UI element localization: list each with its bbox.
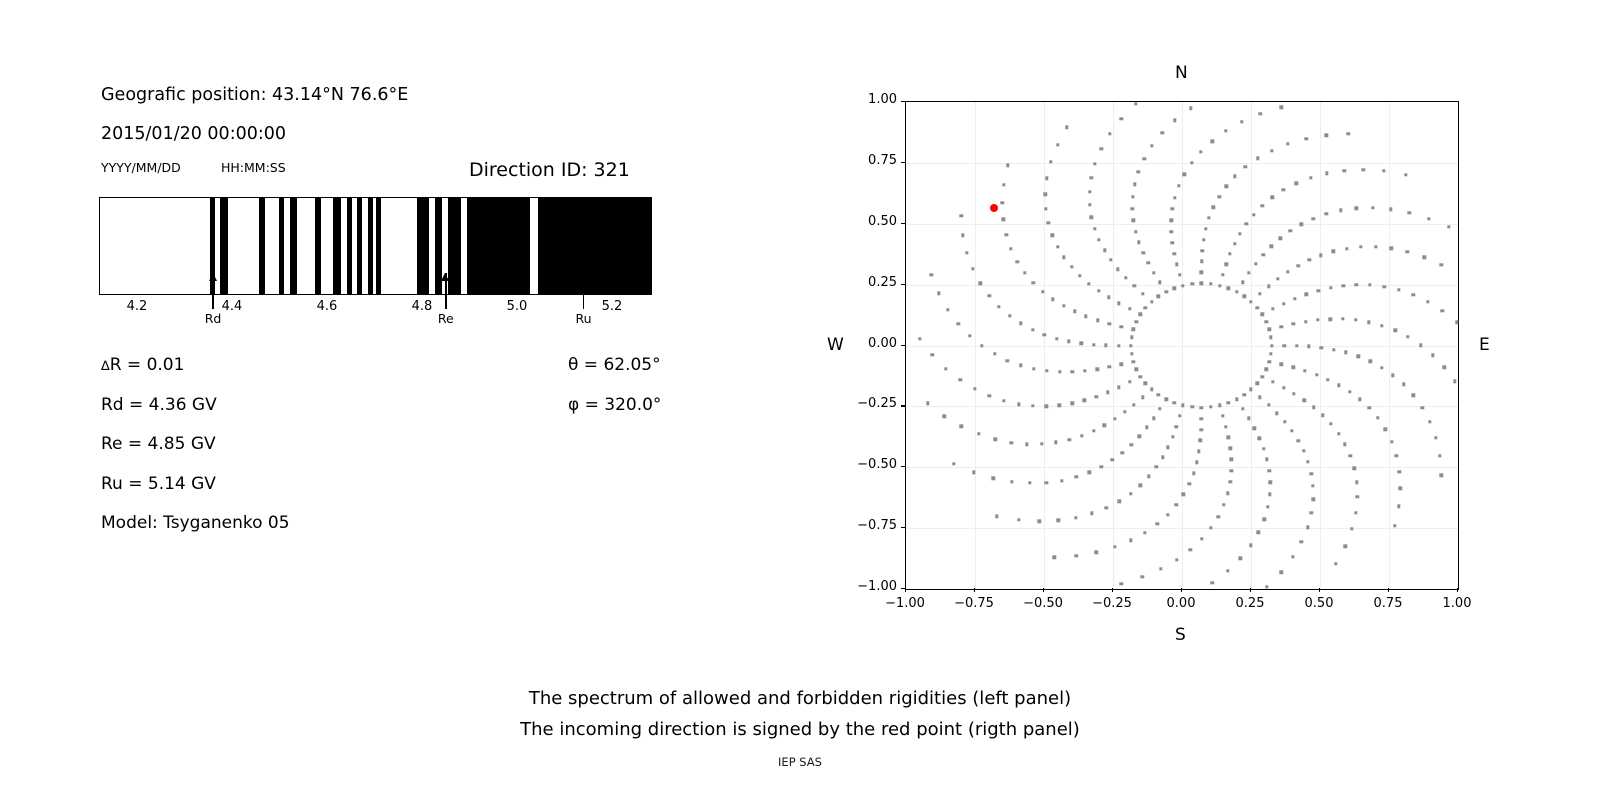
direction-dot bbox=[918, 337, 921, 340]
footer-label: IEP SAS bbox=[0, 755, 1600, 769]
inner-ring-dot bbox=[1209, 282, 1212, 285]
direction-dot bbox=[1443, 366, 1446, 369]
inner-ring-dot bbox=[1173, 401, 1176, 404]
direction-dot bbox=[1173, 196, 1176, 199]
direction-dot bbox=[1210, 581, 1213, 584]
direction-dot bbox=[1280, 570, 1283, 573]
inner-ring-dot bbox=[1200, 282, 1203, 285]
direction-dot bbox=[1195, 461, 1198, 464]
inner-ring-dot bbox=[1255, 382, 1258, 385]
polar-xtick-label: 0.75 bbox=[1374, 596, 1403, 611]
direction-dot bbox=[965, 251, 968, 254]
direction-dot bbox=[1044, 192, 1047, 195]
datetime-label: 2015/01/20 00:00:00 bbox=[101, 124, 286, 144]
polar-ytick-mark bbox=[901, 405, 905, 406]
theta-param: θ = 62.05° bbox=[568, 355, 661, 375]
direction-dot bbox=[1292, 366, 1295, 369]
direction-dot bbox=[1166, 513, 1169, 516]
direction-dot bbox=[1070, 265, 1073, 268]
direction-dot bbox=[1132, 403, 1135, 406]
inner-ring-dot bbox=[1135, 320, 1138, 323]
direction-dot bbox=[1280, 106, 1283, 109]
direction-dot bbox=[1124, 276, 1127, 279]
direction-dot bbox=[1152, 271, 1155, 274]
inner-ring-dot bbox=[1235, 290, 1238, 293]
incoming-direction-point[interactable] bbox=[990, 204, 998, 212]
polar-ytick-mark bbox=[901, 466, 905, 467]
inner-ring-dot bbox=[1150, 300, 1153, 303]
direction-dot bbox=[1271, 380, 1274, 383]
direction-dot bbox=[1097, 238, 1100, 241]
direction-dot bbox=[1211, 139, 1214, 142]
direction-dot bbox=[972, 471, 975, 474]
direction-dot bbox=[1247, 417, 1250, 420]
direction-dot bbox=[1140, 575, 1143, 578]
direction-dot bbox=[1382, 285, 1385, 288]
direction-dot bbox=[1108, 365, 1111, 368]
direction-dot bbox=[1356, 495, 1359, 498]
direction-dot bbox=[1253, 426, 1256, 429]
direction-dot bbox=[1350, 527, 1353, 530]
direction-dot bbox=[1200, 537, 1203, 540]
direction-dot bbox=[1224, 263, 1227, 266]
direction-dot bbox=[1395, 454, 1398, 457]
direction-dot bbox=[1315, 373, 1318, 376]
direction-dot bbox=[1329, 286, 1332, 289]
direction-dot bbox=[1200, 260, 1203, 263]
direction-dot bbox=[1268, 493, 1271, 496]
delta-r-value: R = 0.01 bbox=[110, 355, 185, 375]
direction-dot bbox=[1438, 454, 1441, 457]
direction-dot bbox=[1088, 203, 1091, 206]
direction-dot bbox=[1132, 219, 1135, 222]
direction-dot bbox=[1222, 503, 1225, 506]
direction-dot bbox=[1147, 475, 1150, 478]
direction-dot bbox=[1075, 554, 1078, 557]
polar-ytick-label: 0.25 bbox=[843, 275, 897, 290]
direction-dot bbox=[1031, 328, 1034, 331]
direction-dot bbox=[1057, 519, 1060, 522]
direction-dot bbox=[1051, 298, 1054, 301]
direction-dot bbox=[1031, 404, 1034, 407]
direction-dot bbox=[1067, 340, 1070, 343]
direction-dot bbox=[1238, 232, 1241, 235]
inner-ring-dot bbox=[1227, 401, 1230, 404]
inner-ring-dot bbox=[1269, 336, 1272, 339]
direction-dot bbox=[1334, 562, 1337, 565]
direction-dot bbox=[973, 387, 976, 390]
spectrum-xtick-label: 5.2 bbox=[602, 299, 623, 314]
forbidden-band bbox=[290, 198, 298, 294]
direction-dot bbox=[1158, 281, 1161, 284]
direction-dot bbox=[1032, 367, 1035, 370]
direction-dot bbox=[1109, 258, 1112, 261]
direction-dot bbox=[1017, 518, 1020, 521]
direction-dot bbox=[937, 292, 940, 295]
direction-dot bbox=[1276, 277, 1279, 280]
direction-dot bbox=[1393, 329, 1396, 332]
direction-dot bbox=[1332, 250, 1335, 253]
direction-dot bbox=[1256, 157, 1259, 160]
direction-dot bbox=[1397, 505, 1400, 508]
polar-xtick-mark bbox=[974, 588, 975, 592]
direction-dot bbox=[1312, 406, 1315, 409]
inner-ring-dot bbox=[1269, 352, 1272, 355]
re-param: Re = 4.85 GV bbox=[101, 434, 216, 454]
direction-dot bbox=[930, 273, 933, 276]
inner-ring-dot bbox=[1227, 286, 1230, 289]
direction-dot bbox=[1233, 242, 1236, 245]
direction-dot bbox=[1161, 131, 1164, 134]
delta-r-param: ∆R = 0.01 bbox=[101, 355, 184, 375]
inner-ring-dot bbox=[1218, 404, 1221, 407]
direction-dot bbox=[1358, 398, 1361, 401]
direction-dot bbox=[1155, 522, 1158, 525]
direction-dot bbox=[1100, 465, 1103, 468]
direction-dot bbox=[1376, 416, 1379, 419]
direction-dot bbox=[1279, 237, 1282, 240]
direction-dot bbox=[1221, 414, 1224, 417]
direction-dot bbox=[1345, 247, 1348, 250]
direction-dot bbox=[1142, 157, 1145, 160]
direction-dot bbox=[1228, 252, 1231, 255]
direction-dot bbox=[1263, 518, 1266, 521]
direction-dot bbox=[1002, 218, 1005, 221]
direction-dot bbox=[1117, 386, 1120, 389]
polar-xtick-label: 0.00 bbox=[1167, 596, 1196, 611]
direction-dot bbox=[1137, 241, 1140, 244]
direction-dot bbox=[1084, 314, 1087, 317]
direction-dot bbox=[1075, 475, 1078, 478]
compass-label-east: E bbox=[1479, 335, 1490, 355]
polar-xtick-label: 0.50 bbox=[1305, 596, 1334, 611]
direction-dot bbox=[1271, 307, 1274, 310]
polar-ytick-label: −1.00 bbox=[843, 579, 897, 594]
direction-dot bbox=[1302, 399, 1305, 402]
direction-dot bbox=[1145, 426, 1148, 429]
direction-dot bbox=[1402, 383, 1405, 386]
direction-dot bbox=[1422, 255, 1425, 258]
direction-dot bbox=[1100, 147, 1103, 150]
direction-dot bbox=[1393, 524, 1396, 527]
inner-ring-dot bbox=[1261, 313, 1264, 316]
direction-dot bbox=[1207, 216, 1210, 219]
direction-dot bbox=[1226, 492, 1229, 495]
direction-dot bbox=[1055, 337, 1058, 340]
direction-dot bbox=[1316, 318, 1319, 321]
direction-dot bbox=[1419, 343, 1422, 346]
direction-dot bbox=[1292, 322, 1295, 325]
direction-dot bbox=[1080, 342, 1083, 345]
direction-dot bbox=[1337, 432, 1340, 435]
forbidden-band bbox=[467, 198, 530, 294]
direction-dot bbox=[1306, 526, 1309, 529]
direction-dot bbox=[1183, 173, 1186, 176]
inner-ring-dot bbox=[1265, 320, 1268, 323]
direction-dot bbox=[957, 322, 960, 325]
direction-dot bbox=[1302, 449, 1305, 452]
direction-dot bbox=[1052, 556, 1055, 559]
direction-dot bbox=[1095, 368, 1098, 371]
direction-dot bbox=[1093, 227, 1096, 230]
direction-dot bbox=[1040, 442, 1043, 445]
direction-dot bbox=[1332, 348, 1335, 351]
polar-ytick-mark bbox=[901, 284, 905, 285]
direction-dot bbox=[1427, 217, 1430, 220]
direction-dot bbox=[1120, 363, 1123, 366]
direction-dot bbox=[1329, 422, 1332, 425]
marker-label: Rd bbox=[205, 311, 222, 326]
direction-dot bbox=[1090, 512, 1093, 515]
direction-dot bbox=[1171, 241, 1174, 244]
direction-dot bbox=[1200, 271, 1203, 274]
direction-dot bbox=[1282, 302, 1285, 305]
inner-ring-dot bbox=[1209, 405, 1212, 408]
direction-dot bbox=[1178, 273, 1181, 276]
direction-dot bbox=[1139, 484, 1142, 487]
direction-dot bbox=[1305, 137, 1308, 140]
direction-dot bbox=[1325, 134, 1328, 137]
direction-dot bbox=[1171, 207, 1174, 210]
direction-dot bbox=[1434, 436, 1437, 439]
direction-dot bbox=[1189, 548, 1192, 551]
direction-dot bbox=[1296, 264, 1299, 267]
polar-xtick-mark bbox=[1250, 588, 1251, 592]
direction-dot bbox=[1262, 447, 1265, 450]
direction-dot bbox=[1120, 325, 1123, 328]
direction-dot bbox=[1247, 271, 1250, 274]
direction-dot bbox=[1177, 184, 1180, 187]
polar-ytick-mark bbox=[901, 345, 905, 346]
direction-dot bbox=[1025, 442, 1028, 445]
direction-dot bbox=[1306, 460, 1309, 463]
direction-dot bbox=[1325, 172, 1328, 175]
direction-dot bbox=[1380, 324, 1383, 327]
polar-ytick-label: −0.75 bbox=[843, 518, 897, 533]
direction-dot bbox=[1190, 161, 1193, 164]
direction-dot bbox=[1134, 102, 1137, 105]
direction-dot bbox=[1189, 107, 1192, 110]
forbidden-band bbox=[259, 198, 265, 294]
direction-dot bbox=[1010, 480, 1013, 483]
direction-dot bbox=[1083, 369, 1086, 372]
forbidden-band bbox=[357, 198, 362, 294]
spectrum-xtick-label: 4.8 bbox=[412, 299, 433, 314]
direction-dot bbox=[1412, 394, 1415, 397]
direction-dot bbox=[1134, 230, 1137, 233]
direction-dot bbox=[971, 267, 974, 270]
direction-dot bbox=[1111, 458, 1114, 461]
direction-dot bbox=[1267, 403, 1270, 406]
direction-dot bbox=[1175, 503, 1178, 506]
direction-dot bbox=[1311, 497, 1314, 500]
direction-dot bbox=[1170, 219, 1173, 222]
compass-label-north: N bbox=[1175, 63, 1188, 83]
inner-ring-dot bbox=[1135, 368, 1138, 371]
inner-ring-dot bbox=[1218, 284, 1221, 287]
spectrum-xtick-label: 4.2 bbox=[127, 299, 148, 314]
direction-dot bbox=[1192, 471, 1195, 474]
compass-label-south: S bbox=[1175, 625, 1186, 645]
direction-dot bbox=[1049, 160, 1052, 163]
direction-dot bbox=[1045, 369, 1048, 372]
direction-dot bbox=[1282, 188, 1285, 191]
compass-label-west: W bbox=[827, 335, 844, 355]
direction-dot bbox=[943, 414, 946, 417]
inner-ring-dot bbox=[1130, 352, 1133, 355]
forbidden-band bbox=[368, 198, 373, 294]
direction-dot bbox=[1058, 404, 1061, 407]
direction-dot bbox=[1310, 472, 1313, 475]
polar-xtick-mark bbox=[1112, 588, 1113, 592]
direction-dot bbox=[1083, 399, 1086, 402]
direction-dot bbox=[1453, 380, 1456, 383]
forbidden-band bbox=[333, 198, 341, 294]
direction-dot bbox=[1300, 540, 1303, 543]
direction-dot bbox=[1155, 465, 1158, 468]
forbidden-band bbox=[347, 198, 352, 294]
direction-dot bbox=[1138, 434, 1141, 437]
direction-dot bbox=[1074, 516, 1077, 519]
direction-dot bbox=[1289, 229, 1292, 232]
forbidden-band bbox=[220, 198, 229, 294]
direction-dot bbox=[1068, 438, 1071, 441]
rigidity-spectrum-axis: 4.24.44.64.85.05.2RdReRu bbox=[99, 295, 652, 355]
direction-dot bbox=[1389, 208, 1392, 211]
direction-dot bbox=[1426, 300, 1429, 303]
direction-dot bbox=[1010, 441, 1013, 444]
direction-dot bbox=[1229, 458, 1232, 461]
direction-dot bbox=[1390, 440, 1393, 443]
inner-ring-dot bbox=[1235, 398, 1238, 401]
direction-dot bbox=[1132, 284, 1135, 287]
polar-xtick-mark bbox=[1181, 588, 1182, 592]
direction-dot bbox=[1000, 201, 1003, 204]
direction-dot bbox=[1005, 233, 1008, 236]
direction-dot bbox=[992, 476, 995, 479]
direction-dot bbox=[995, 515, 998, 518]
direction-dot bbox=[1295, 182, 1298, 185]
direction-dot bbox=[1320, 346, 1323, 349]
direction-dot bbox=[1408, 211, 1411, 214]
figure-canvas: Geografic position: 43.14°N 76.6°E 2015/… bbox=[0, 0, 1600, 800]
direction-dot bbox=[1175, 263, 1178, 266]
direction-dot bbox=[1367, 406, 1370, 409]
direction-dot bbox=[1056, 143, 1059, 146]
polar-xtick-label: 1.00 bbox=[1443, 596, 1472, 611]
direction-dot bbox=[1129, 539, 1132, 542]
direction-dot bbox=[1008, 314, 1011, 317]
direction-dot bbox=[1321, 414, 1324, 417]
direction-dot bbox=[1368, 283, 1371, 286]
direction-dot bbox=[1258, 395, 1261, 398]
direction-dot bbox=[1380, 366, 1383, 369]
inner-ring-dot bbox=[1157, 393, 1160, 396]
direction-dot bbox=[1047, 221, 1050, 224]
direction-dot bbox=[1439, 263, 1442, 266]
direction-dot bbox=[988, 294, 991, 297]
direction-dot bbox=[1367, 320, 1370, 323]
direction-dot bbox=[1343, 442, 1346, 445]
direction-dot bbox=[1368, 360, 1371, 363]
direction-dot bbox=[1217, 515, 1220, 518]
polar-xtick-mark bbox=[1319, 588, 1320, 592]
forbidden-band bbox=[376, 198, 382, 294]
direction-dot bbox=[1170, 230, 1173, 233]
direction-dot bbox=[1280, 363, 1283, 366]
direction-dot bbox=[1209, 526, 1212, 529]
inner-ring-dot bbox=[1164, 398, 1167, 401]
direction-dot bbox=[1325, 212, 1328, 215]
inner-ring-dot bbox=[1181, 404, 1184, 407]
geographic-position-label: Geografic position: 43.14°N 76.6°E bbox=[101, 85, 408, 105]
direction-dot bbox=[1384, 428, 1387, 431]
marker-label: Re bbox=[438, 311, 454, 326]
direction-dot bbox=[1307, 258, 1310, 261]
direction-dot bbox=[1382, 169, 1385, 172]
direction-dot bbox=[1362, 168, 1365, 171]
direction-dot bbox=[1017, 403, 1020, 406]
polar-ytick-label: −0.25 bbox=[843, 396, 897, 411]
direction-dot bbox=[1120, 582, 1123, 585]
direction-dot bbox=[1133, 183, 1136, 186]
direction-dot bbox=[1129, 492, 1132, 495]
inner-ring-dot bbox=[1268, 328, 1271, 331]
polar-xtick-label: −0.50 bbox=[1023, 596, 1063, 611]
direction-dot bbox=[1045, 405, 1048, 408]
inner-ring-dot bbox=[1157, 295, 1160, 298]
direction-dot bbox=[1123, 410, 1126, 413]
direction-dot bbox=[1019, 364, 1022, 367]
polar-xtick-label: −1.00 bbox=[885, 596, 925, 611]
direction-dot bbox=[1286, 270, 1289, 273]
date-format-hint: YYYY/MM/DD bbox=[101, 160, 181, 175]
polar-xtick-label: 0.25 bbox=[1236, 596, 1265, 611]
direction-dot bbox=[1175, 558, 1178, 561]
spectrum-xtick-label: 4.6 bbox=[317, 299, 338, 314]
direction-dot bbox=[1241, 281, 1244, 284]
direction-dot bbox=[1268, 469, 1271, 472]
direction-dot bbox=[1043, 333, 1046, 336]
direction-dot bbox=[952, 462, 955, 465]
direction-dot bbox=[1307, 345, 1310, 348]
inner-ring-dot bbox=[1190, 405, 1193, 408]
direction-dot bbox=[1078, 274, 1081, 277]
caption-line-1: The spectrum of allowed and forbidden ri… bbox=[0, 688, 1600, 709]
direction-dot bbox=[1258, 292, 1261, 295]
forbidden-band bbox=[417, 198, 429, 294]
direction-dot bbox=[1348, 390, 1351, 393]
inner-ring-dot bbox=[1242, 295, 1245, 298]
direction-dot bbox=[1420, 406, 1423, 409]
direction-dot bbox=[1141, 292, 1144, 295]
direction-dot bbox=[1147, 261, 1150, 264]
direction-dot bbox=[1002, 399, 1005, 402]
direction-dot bbox=[1173, 119, 1176, 122]
direction-dot bbox=[1411, 293, 1414, 296]
direction-dot bbox=[1265, 585, 1268, 588]
direction-dot bbox=[1166, 446, 1169, 449]
inner-ring-dot bbox=[1190, 282, 1193, 285]
direction-dot bbox=[926, 402, 929, 405]
direction-dot bbox=[1038, 519, 1041, 522]
forbidden-band bbox=[279, 198, 284, 294]
rigidity-spectrum-bar bbox=[99, 197, 652, 295]
inner-ring-dot bbox=[1268, 360, 1271, 363]
direction-dot bbox=[1228, 480, 1231, 483]
direction-dot bbox=[1093, 162, 1096, 165]
direction-dot bbox=[1131, 207, 1134, 210]
